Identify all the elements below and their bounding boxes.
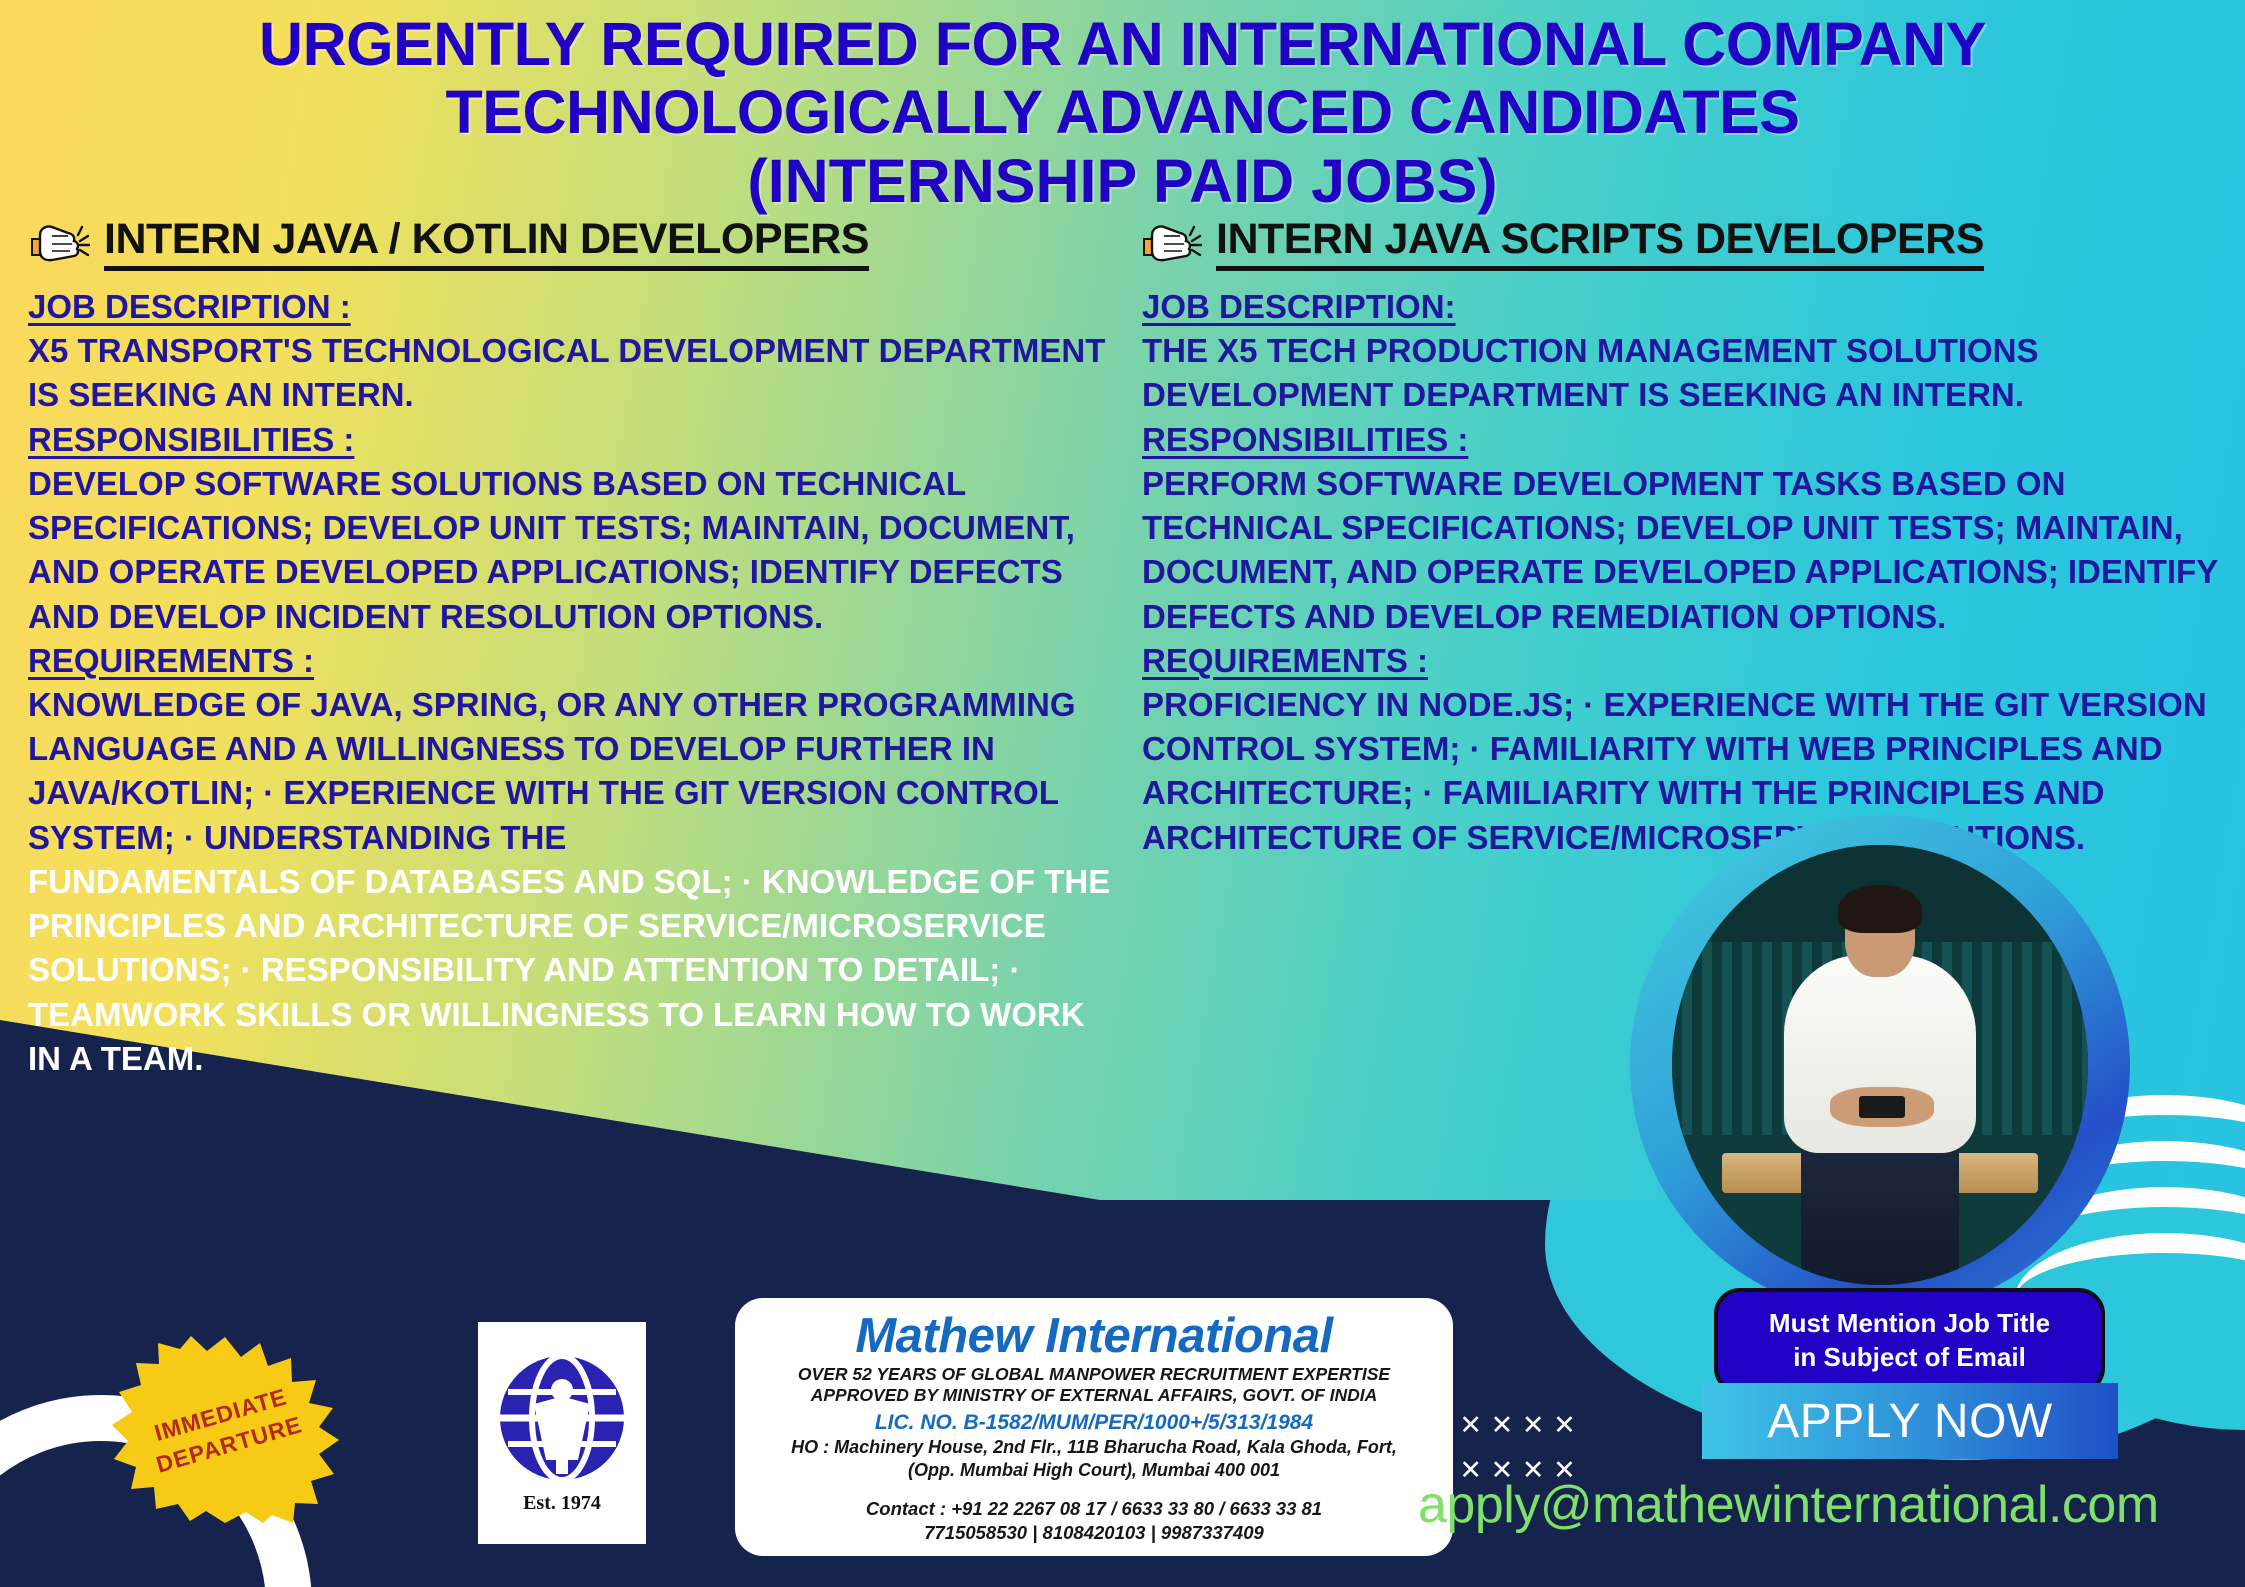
job-description-label-right: JOB DESCRIPTION: [1130, 285, 2230, 329]
responsibilities-body-left: DEVELOP SOFTWARE SOLUTIONS BASED ON TECH… [28, 462, 1118, 639]
poster-headline: URGENTLY REQUIRED FOR AN INTERNATIONAL C… [0, 10, 2245, 215]
job-description-body-left: X5 TRANSPORT'S TECHNOLOGICAL DEVELOPMENT… [28, 329, 1118, 417]
job-description-label-left: JOB DESCRIPTION : [28, 285, 1118, 329]
company-logo-tile: Est. 1974 [478, 1322, 646, 1544]
job-poster: URGENTLY REQUIRED FOR AN INTERNATIONAL C… [0, 0, 2245, 1587]
responsibilities-body-right: PERFORM SOFTWARE DEVELOPMENT TASKS BASED… [1130, 462, 2230, 639]
company-contact-card: Mathew International OVER 52 YEARS OF GL… [735, 1298, 1453, 1556]
apply-now-button[interactable]: APPLY NOW [1702, 1383, 2118, 1459]
company-tagline-1: OVER 52 YEARS OF GLOBAL MANPOWER RECRUIT… [735, 1364, 1453, 1385]
pointing-hand-icon [28, 217, 90, 269]
pill-line-2: in Subject of Email [1793, 1341, 2026, 1375]
x-mark: ✕ [1518, 1410, 1549, 1441]
must-mention-job-title-note: Must Mention Job Title in Subject of Ema… [1714, 1288, 2105, 1394]
company-contact-line-1: Contact : +91 22 2267 08 17 / 6633 33 80… [735, 1497, 1453, 1521]
requirements-label-right: REQUIREMENTS : [1130, 639, 2230, 683]
pointing-hand-icon [1140, 217, 1202, 269]
headline-line-2: TECHNOLOGICALLY ADVANCED CANDIDATES [0, 78, 2245, 146]
requirements-body-left-light: FUNDAMENTALS OF DATABASES AND SQL; · KNO… [28, 860, 1118, 1081]
x-mark: ✕ [1486, 1410, 1517, 1441]
candidate-photo [1630, 815, 2130, 1315]
job-title-row-left: INTERN JAVA / KOTLIN DEVELOPERS [28, 215, 1118, 271]
apply-email-address[interactable]: apply@mathewinternational.com [1418, 1475, 2228, 1535]
company-license: LIC. NO. B-1582/MUM/PER/1000+/5/313/1984 [735, 1409, 1453, 1436]
job-title-row-right: INTERN JAVA SCRIPTS DEVELOPERS [1130, 215, 2230, 271]
pill-line-1: Must Mention Job Title [1769, 1307, 2050, 1341]
company-name: Mathew International [735, 1308, 1453, 1364]
responsibilities-label-left: RESPONSIBILITIES : [28, 418, 1118, 462]
globe-person-logo-icon [494, 1352, 630, 1488]
job-title-left: INTERN JAVA / KOTLIN DEVELOPERS [104, 215, 869, 271]
photo-inner [1672, 845, 2088, 1285]
job-column-left: INTERN JAVA / KOTLIN DEVELOPERS JOB DESC… [28, 215, 1118, 1081]
headline-line-1: URGENTLY REQUIRED FOR AN INTERNATIONAL C… [0, 10, 2245, 78]
requirements-body-left-dark: KNOWLEDGE OF JAVA, SPRING, OR ANY OTHER … [28, 683, 1118, 860]
headline-line-3: (INTERNSHIP PAID JOBS) [0, 147, 2245, 215]
x-mark: ✕ [1455, 1410, 1486, 1441]
job-column-right: INTERN JAVA SCRIPTS DEVELOPERS JOB DESCR… [1130, 215, 2230, 860]
responsibilities-label-right: RESPONSIBILITIES : [1130, 418, 2230, 462]
requirements-label-left: REQUIREMENTS : [28, 639, 1118, 683]
company-tagline-2: APPROVED BY MINISTRY OF EXTERNAL AFFAIRS… [735, 1385, 1453, 1406]
immediate-departure-badge: IMMEDIATE DEPARTURE [110, 1335, 340, 1525]
job-title-right: INTERN JAVA SCRIPTS DEVELOPERS [1216, 215, 1984, 271]
x-mark: ✕ [1549, 1410, 1580, 1441]
job-description-body-right: THE X5 TECH PRODUCTION MANAGEMENT SOLUTI… [1130, 329, 2230, 417]
company-address-line-2: (Opp. Mumbai High Court), Mumbai 400 001 [735, 1459, 1453, 1482]
company-contact-line-2: 7715058530 | 8108420103 | 9987337409 [735, 1521, 1453, 1545]
established-label: Est. 1974 [523, 1492, 601, 1515]
company-address-line-1: HO : Machinery House, 2nd Flr., 11B Bhar… [735, 1436, 1453, 1459]
